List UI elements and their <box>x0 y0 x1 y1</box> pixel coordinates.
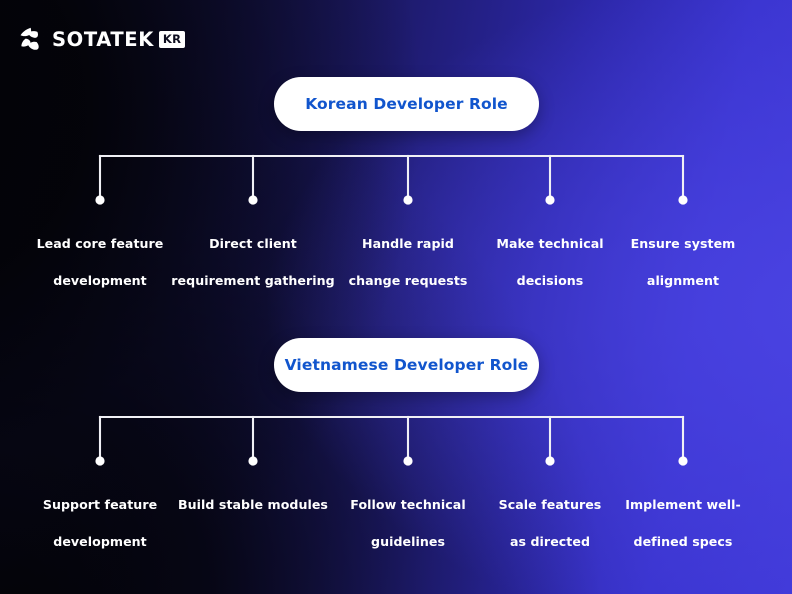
leaf-line-1: Implement well- <box>598 496 768 514</box>
leaf-line-2: alignment <box>598 272 768 290</box>
brand-logo: SOTATEK KR <box>18 26 185 53</box>
role-card-korean[interactable]: Korean Developer Role <box>274 77 539 131</box>
leaf-line-1: Ensure system <box>598 235 768 253</box>
role-card-vietnamese[interactable]: Vietnamese Developer Role <box>274 338 539 392</box>
leaf-label: Build stable modules <box>168 478 338 551</box>
brand-name: SOTATEK <box>52 30 154 50</box>
leaf-line-1: Lead core feature <box>15 235 185 253</box>
leaf-line-1: Direct client <box>168 235 338 253</box>
leaf-label: Lead core feature development <box>15 217 185 308</box>
leaf-line-2: development <box>15 272 185 290</box>
leaf-label: Ensure system alignment <box>598 217 768 308</box>
leaf-line-1: Support feature <box>15 496 185 514</box>
leaf-line-1: Build stable modules <box>168 496 338 514</box>
leaf-label: Support feature development <box>15 478 185 569</box>
leaf-line-2: development <box>15 533 185 551</box>
brand-region-badge: KR <box>159 31 185 49</box>
role-card-korean-title: Korean Developer Role <box>305 95 508 113</box>
leaf-label: Implement well- defined specs <box>598 478 768 569</box>
leaf-line-2: requirement gathering <box>168 272 338 290</box>
connector-tree-korean <box>0 131 792 201</box>
brand-wordmark: SOTATEK KR <box>52 30 185 50</box>
connector-tree-vietnamese <box>0 392 792 462</box>
slide-canvas: SOTATEK KR Korean Developer Role <box>0 0 792 594</box>
sotatek-leaf-mark-icon <box>18 26 45 53</box>
role-card-vietnamese-title: Vietnamese Developer Role <box>285 356 529 374</box>
leaf-label: Direct client requirement gathering <box>168 217 338 308</box>
leaf-line-2: defined specs <box>598 533 768 551</box>
